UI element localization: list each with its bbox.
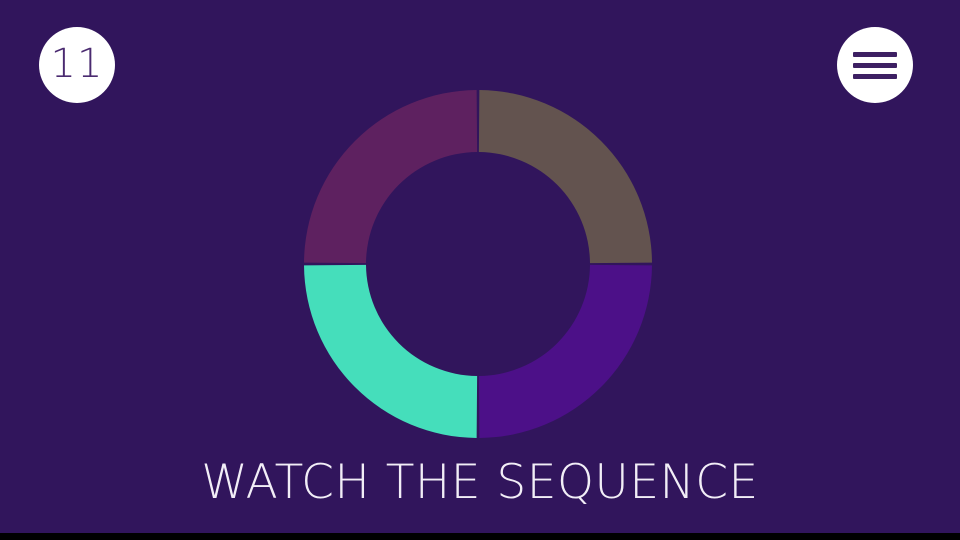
donut-segment-top-right[interactable] (479, 90, 652, 263)
donut-segment-top-left[interactable] (304, 90, 477, 263)
donut-segment-bottom-left[interactable] (304, 265, 477, 438)
menu-button[interactable] (837, 27, 913, 103)
hamburger-line-bottom (853, 74, 897, 79)
sequence-donut-svg (304, 90, 652, 438)
donut-segment-bottom-right[interactable] (479, 265, 652, 438)
game-screen: 11 WATCH THE SEQUENCE (0, 0, 960, 540)
level-badge: 11 (39, 27, 115, 103)
game-stage: 11 WATCH THE SEQUENCE (0, 0, 960, 533)
donut-segments (304, 90, 652, 438)
hamburger-line-top (853, 52, 897, 57)
level-number: 11 (51, 44, 104, 84)
hamburger-line-middle (853, 63, 897, 68)
sequence-donut (304, 90, 652, 438)
bottom-letterbox-bar (0, 533, 960, 540)
hamburger-menu-icon (853, 52, 897, 79)
instruction-text: WATCH THE SEQUENCE (0, 455, 960, 510)
